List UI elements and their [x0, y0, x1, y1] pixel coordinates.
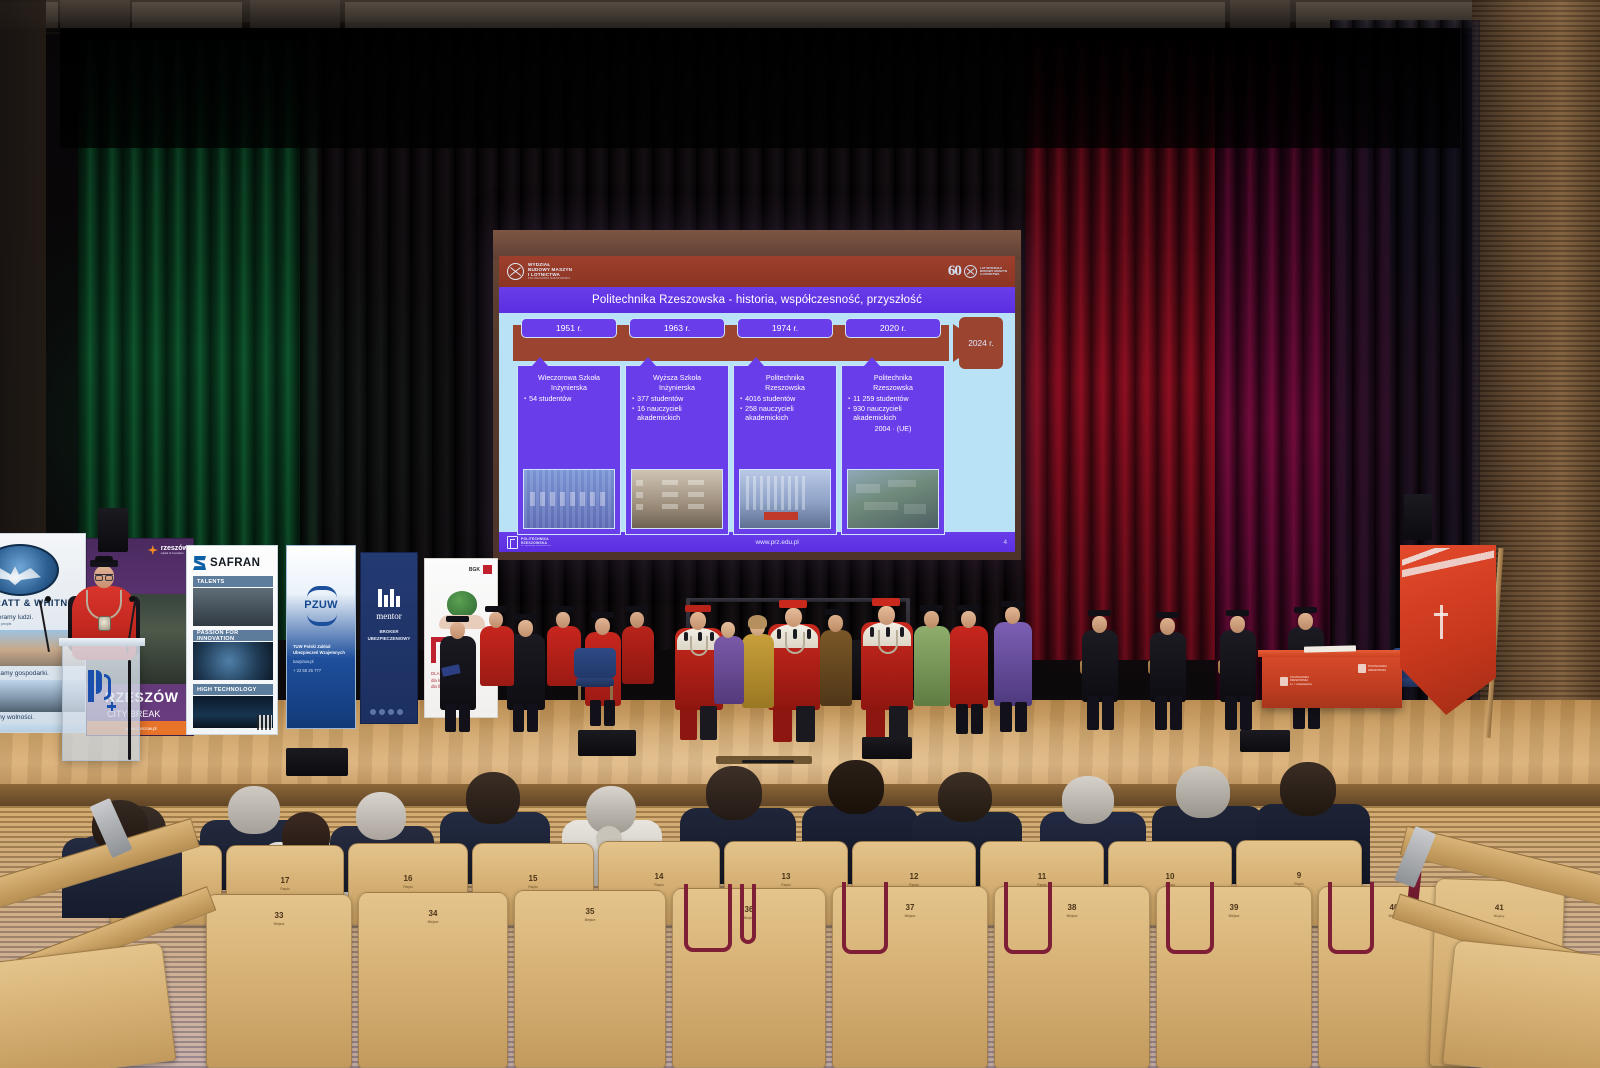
robe-drape — [796, 706, 815, 742]
ermine-tail — [900, 627, 904, 637]
university-seal-icon — [1358, 664, 1366, 673]
seat-sublabel: Rzędu — [227, 887, 343, 891]
timeline-year-1974: 1974 r. — [737, 318, 833, 338]
historic-building-photo — [523, 469, 615, 529]
person-legs — [1087, 696, 1099, 730]
pzuw-arc-top-icon — [307, 586, 337, 598]
stage-person-black-robe — [1080, 608, 1120, 730]
podium-top-surface — [59, 638, 145, 646]
audience-seat-front[interactable]: 33 Miejsce — [206, 894, 352, 1068]
stage-monitor-speaker — [578, 730, 636, 756]
pzuw-wordmark: PZUW — [287, 599, 355, 611]
instagram-icon — [379, 709, 385, 715]
banner-mentor: mentor BROKER UBEZPIECZENIOWY — [360, 552, 418, 724]
stage-person-green-robe — [912, 604, 952, 732]
timeline-year-1951: 1951 r. — [521, 318, 617, 338]
stat-text: 377 studentów — [637, 395, 683, 405]
person-legs — [445, 704, 456, 732]
person-head — [595, 618, 610, 635]
side-speaker — [98, 508, 128, 552]
person-legs — [1102, 696, 1114, 730]
seat-number: 17 — [227, 876, 343, 885]
audience-head — [466, 772, 520, 824]
hair — [748, 615, 767, 629]
year-label: 2020 r. — [880, 323, 906, 333]
banner-tagline-3: Bronimy wolności. — [0, 714, 34, 721]
biretta-cap — [920, 605, 943, 611]
safran-qr-icon — [257, 715, 272, 730]
institution-line-1: Wieczorowa Szkoła — [538, 374, 600, 382]
slide-title-bar: Politechnika Rzeszowska - historia, wspó… — [499, 287, 1015, 313]
slide-footer: POLITECHNIKA RZESZOWSKA im. Ignacego Łuk… — [499, 532, 1015, 552]
year-label: 1951 r. — [556, 323, 582, 333]
institution-line-2: Rzeszowska — [765, 384, 805, 392]
microphone-head-left — [45, 596, 51, 602]
seat-sublabel: Miejsce — [515, 918, 665, 922]
timeline-column-1974: Politechnika Rzeszowska ▪ 4016 studentów… — [733, 365, 837, 535]
table-logo-left: POLITECHNIKA RZESZOWSKA im. I. Łukasiewi… — [1280, 676, 1312, 686]
person-legs — [1155, 696, 1167, 730]
ermine-tail — [777, 629, 781, 639]
university-logo-text: POLITECHNIKA RZESZOWSKA im. Ignacego Łuk… — [521, 537, 551, 547]
reserved-ribbon — [1328, 882, 1374, 954]
rzeszow-tagline: capital of innovation — [161, 552, 188, 555]
person-legs — [956, 704, 968, 734]
audience-head — [1062, 776, 1114, 824]
projection-screen: WYDZIAŁ BUDOWY MASZYN I LOTNICTWA POLITE… — [493, 230, 1021, 560]
person-head — [721, 622, 735, 638]
stage-person-brown-robe — [818, 608, 854, 730]
ceiling-tile — [132, 2, 242, 28]
academic-biretta-cap — [90, 560, 118, 567]
rector-medallion — [98, 616, 111, 631]
reserved-ribbon — [740, 884, 756, 944]
person-legs — [604, 700, 615, 726]
person-head — [1092, 616, 1107, 633]
person-legs — [527, 704, 538, 732]
presentation-slide: WYDZIAŁ BUDOWY MASZYN I LOTNICTWA POLITE… — [499, 256, 1015, 552]
seat-sublabel: Rzędu — [473, 885, 593, 889]
table-logo-line-1: POLITECHNIKA — [1368, 665, 1387, 668]
audience-head — [1176, 766, 1230, 818]
mentor-social-icons — [370, 709, 403, 715]
stat-text: 258 nauczycieli akademickich — [745, 405, 831, 424]
ermine-tail — [870, 627, 874, 637]
microphone-head-right — [129, 596, 135, 602]
green-robe — [914, 626, 950, 706]
safran-caption-passion: PASSION FOR INNOVATION — [193, 630, 273, 641]
person-legs — [1015, 702, 1027, 732]
rector-red-cap — [685, 605, 711, 612]
person-head — [450, 622, 465, 639]
seat-number: 16 — [349, 874, 467, 883]
audience-seat-front[interactable]: 34 Miejsce — [358, 892, 508, 1068]
anniversary-number: 60 — [948, 263, 961, 280]
slide-title: Politechnika Rzeszowska - historia, wspó… — [592, 294, 922, 306]
banner-tagline-1: Wspieramy ludzi. — [0, 614, 33, 621]
stat-text: 11 259 studentów — [853, 395, 908, 405]
seat-number: 33 — [207, 911, 351, 920]
stat-item: ▪ 930 nauczycieli akademickich — [847, 405, 939, 424]
year-label: 1963 r. — [664, 323, 690, 333]
person-legs — [1170, 696, 1182, 730]
anniversary-text: LAT WYDZIAŁU BUDOWY MASZYN I LOTNICTWA — [980, 267, 1007, 277]
ceiling-beam — [250, 0, 340, 30]
mentor-subtitle: BROKER UBEZPIECZENIOWY — [361, 629, 417, 642]
eu-accession-note: 2004 · (UE) — [847, 425, 939, 433]
stat-item: ▪ 258 nauczycieli akademickich — [739, 405, 831, 424]
audience-head — [706, 766, 762, 820]
bullet-icon: ▪ — [740, 405, 742, 424]
mentor-sub-line-1: BROKER — [379, 629, 398, 634]
timeline-year-1963: 1963 r. — [629, 318, 725, 338]
person-head — [961, 611, 976, 628]
brown-robe — [820, 630, 852, 706]
anniversary-emblem-icon — [964, 265, 977, 278]
institution-line-1: Politechnika — [766, 374, 804, 382]
biretta-cap — [957, 605, 980, 611]
seat-number: 14 — [599, 872, 719, 881]
safran-logo: SAFRAN — [193, 556, 260, 570]
timeline-year-2020: 2020 r. — [845, 318, 941, 338]
banner-pzuw: PZUW TUW Polski Zakład Ubezpieczeń Wzaje… — [286, 545, 356, 729]
prz-logo-icon — [507, 536, 518, 549]
linkedin-icon — [388, 709, 394, 715]
seat-sublabel: Miejsce — [207, 922, 351, 926]
purple-robe — [714, 636, 744, 704]
person-legs — [459, 704, 470, 732]
institution-line-1: Wyższa Szkoła — [653, 374, 701, 382]
institution-line-1: Politechnika — [874, 374, 912, 382]
pzuw-phone: + 22 58 25 777 — [293, 668, 345, 674]
audience-seat-front[interactable]: 35 Miejsce — [514, 890, 666, 1068]
faculty-logo-text: WYDZIAŁ BUDOWY MASZYN I LOTNICTWA POLITE… — [528, 263, 572, 281]
safran-photo-talents — [193, 588, 273, 626]
rector-chain-of-office — [878, 630, 898, 654]
pzuw-legal-line-2: Ubezpieczeń Wzajemnych — [293, 650, 345, 656]
stat-item: ▪ 4016 studentów — [739, 395, 831, 405]
institution-line-2: Inżynierska — [659, 384, 695, 392]
biretta-cap — [1088, 610, 1111, 616]
stage-person-purple-robe — [992, 600, 1034, 732]
pratt-whitney-badge-icon — [0, 544, 59, 596]
side-wall-left — [0, 0, 46, 620]
biretta-cap — [824, 609, 847, 615]
seat-number: 9 — [1237, 871, 1361, 880]
biretta-cap — [1226, 610, 1249, 616]
bullet-icon: ▪ — [524, 395, 526, 405]
stage-valance — [60, 28, 1460, 148]
person-legs — [1240, 696, 1252, 730]
person-head — [1230, 616, 1245, 633]
timeline-column-1963: Wyższa Szkoła Inżynierska ▪ 377 studentó… — [625, 365, 729, 535]
aerial-campus-photo — [847, 469, 939, 529]
year-label: 2024 r. — [968, 338, 994, 348]
bullet-icon: ▪ — [632, 405, 634, 424]
person-head — [878, 606, 895, 625]
mic-cable — [128, 660, 131, 760]
university-logo: POLITECHNIKA RZESZOWSKA im. Ignacego Łuk… — [507, 536, 551, 549]
ceiling-beam — [1230, 0, 1290, 30]
stage-person-black-robe — [438, 614, 478, 724]
bullet-icon: ▪ — [632, 395, 634, 405]
robe-drape — [680, 706, 697, 740]
institution-line-2: Rzeszowska — [873, 384, 913, 392]
seat-number: 34 — [359, 909, 507, 918]
glasses-icon — [95, 574, 113, 578]
slide-number: 4 — [1003, 539, 1007, 546]
seat-number: 12 — [853, 872, 975, 881]
facebook-icon — [370, 709, 376, 715]
faculty-logo: WYDZIAŁ BUDOWY MASZYN I LOTNICTWA POLITE… — [507, 263, 572, 281]
institution-name: Politechnika Rzeszowska — [739, 374, 831, 393]
safran-photo-engine — [193, 642, 273, 680]
reserved-ribbon — [842, 882, 888, 954]
stage-person-red-robe — [948, 604, 990, 734]
black-robe — [1150, 632, 1186, 702]
stat-text: 16 nauczycieli akademickich — [637, 405, 723, 424]
table-logo-line-2: RZESZOWSKA — [1368, 669, 1387, 672]
rector-chain-of-office — [690, 636, 708, 656]
stat-text: 4016 studentów — [745, 395, 795, 405]
biretta-cap — [514, 614, 537, 620]
banner-safran: SAFRAN TALENTS PASSION FOR INNOVATION HI… — [186, 545, 278, 735]
university-seal-icon — [1280, 677, 1288, 686]
black-robe — [1220, 630, 1256, 702]
stat-text: 54 studentów — [529, 395, 571, 405]
stage-person-red-robe — [620, 606, 656, 706]
year-label: 1974 r. — [772, 323, 798, 333]
pzuw-legal-block: TUW Polski Zakład Ubezpieczeń Wzajemnych… — [293, 644, 345, 674]
timeline-year-2024: 2024 r. — [959, 317, 1003, 369]
stage-person-black-robe — [1148, 610, 1188, 730]
safran-wordmark: SAFRAN — [210, 557, 260, 569]
person-legs — [590, 700, 601, 726]
person-head — [518, 620, 533, 637]
person-head — [489, 612, 503, 628]
bullet-icon: ▪ — [848, 395, 850, 405]
caption-text: PASSION FOR INNOVATION — [197, 630, 273, 642]
safran-caption-technology: HIGH TECHNOLOGY — [193, 684, 273, 695]
biretta-cap — [591, 612, 614, 618]
stage-person-black-robe — [1218, 608, 1258, 730]
auditorium-photo: WYDZIAŁ BUDOWY MASZYN I LOTNICTWA POLITE… — [0, 0, 1600, 1068]
ermine-tail — [684, 632, 688, 641]
stage-person-purple-robe — [712, 616, 746, 728]
person-head — [1005, 607, 1020, 624]
banner-tagline-2: Rozwijamy gospodarki. — [0, 670, 49, 677]
mentor-wordmark: mentor — [361, 611, 417, 621]
person-legs — [1000, 702, 1012, 732]
person-head — [924, 611, 939, 628]
person-legs — [513, 704, 524, 732]
stage-monitor-speaker — [1240, 730, 1290, 752]
institution-name: Wieczorowa Szkoła Inżynierska — [523, 374, 615, 393]
pzuw-arc-bottom-icon — [307, 614, 337, 626]
timeline-column-1951: Wieczorowa Szkoła Inżynierska ▪ 54 stude… — [517, 365, 621, 535]
stat-item: ▪ 11 259 studentów — [847, 395, 939, 405]
person-head — [690, 612, 706, 630]
safran-caption-talents: TALENTS — [193, 576, 273, 587]
person-head — [828, 615, 843, 632]
rector-red-cap — [872, 598, 900, 606]
cable — [742, 760, 794, 763]
caption-text: TALENTS — [197, 579, 224, 585]
anniversary-logo: 60 LAT WYDZIAŁU BUDOWY MASZYN I LOTNICTW… — [948, 263, 1007, 280]
stat-text: 930 nauczycieli akademickich — [853, 405, 939, 424]
ceremonial-table: POLITECHNIKA RZESZOWSKA im. I. Łukasiewi… — [1262, 654, 1402, 708]
biretta-cap — [1001, 601, 1024, 607]
callout-tail-icon — [748, 357, 764, 366]
mentor-sub-line-2: UBEZPIECZENIOWY — [368, 636, 411, 641]
rzeszow-wordmark: rzeszów — [161, 545, 188, 552]
audience-head — [356, 792, 406, 840]
person-head — [630, 612, 644, 628]
foreground-seat-left[interactable] — [0, 941, 176, 1068]
rzeszow-logo: rzeszów capital of innovation — [148, 545, 188, 555]
callout-tail-icon — [864, 357, 880, 366]
eagle-icon — [0, 564, 41, 586]
seat-sublabel: Rzędu — [349, 885, 467, 889]
institution-line-2: Inżynierska — [551, 384, 587, 392]
ermine-tail — [807, 629, 811, 639]
stage-monitor-speaker — [286, 748, 348, 776]
biretta-cap — [1294, 607, 1317, 613]
safran-mark-icon — [193, 556, 206, 570]
empty-chair — [574, 648, 616, 700]
person-head — [556, 612, 570, 628]
red-robe — [480, 626, 514, 686]
banner-tagline-sub: We support people. — [0, 622, 12, 626]
audience-head — [828, 760, 884, 814]
person-head — [1298, 613, 1313, 630]
bgk-logo: BGK — [469, 565, 492, 574]
institution-name: Wyższa Szkoła Inżynierska — [631, 374, 723, 393]
podium-prz-logo-icon — [87, 670, 117, 712]
reserved-ribbon — [1004, 882, 1052, 954]
bullet-icon: ▪ — [740, 395, 742, 405]
faculty-emblem-icon — [507, 263, 524, 280]
purple-robe — [994, 622, 1032, 706]
slide-url: www.prz.edu.pl — [755, 539, 798, 546]
stage-person-rector — [858, 596, 916, 744]
stat-item: ▪ 16 nauczycieli akademickich — [631, 405, 723, 424]
audience-head — [1280, 762, 1336, 816]
foreground-seat-right[interactable] — [1442, 939, 1600, 1068]
slide-header: WYDZIAŁ BUDOWY MASZYN I LOTNICTWA POLITE… — [499, 256, 1015, 287]
ceiling-beam — [60, 0, 130, 30]
rzeszow-star-icon — [148, 545, 158, 555]
callout-tail-icon — [640, 357, 656, 366]
seat-number: 13 — [725, 872, 847, 881]
stage-monitor-speaker — [862, 737, 912, 759]
bgk-wordmark: BGK — [469, 567, 480, 573]
biretta-cap — [626, 606, 648, 612]
red-robe — [950, 626, 988, 708]
seat-number: 10 — [1109, 872, 1231, 881]
stat-item: ▪ 377 studentów — [631, 395, 723, 405]
seat-number: 11 — [981, 872, 1103, 881]
youtube-icon — [397, 709, 403, 715]
flag-emblem-icon — [1434, 605, 1448, 639]
biretta-cap — [446, 616, 469, 622]
seat-number: 35 — [515, 907, 665, 916]
slide-body: 1951 r. 1963 r. 1974 r. 2020 r. 2024 r. — [499, 313, 1015, 532]
hanging-speaker — [1404, 494, 1432, 540]
timeline-column-2020: Politechnika Rzeszowska ▪ 11 259 student… — [841, 365, 945, 535]
person-head — [785, 608, 802, 627]
biretta-cap — [1156, 612, 1179, 618]
table-logo-right: POLITECHNIKA RZESZOWSKA — [1358, 664, 1387, 673]
campus-building-photo — [739, 469, 831, 529]
black-robe — [1082, 630, 1118, 702]
ceiling-tile — [345, 2, 1225, 28]
reserved-ribbon — [684, 884, 732, 952]
university-line-3: im. Ignacego Łukasiewicza — [521, 545, 551, 547]
person-legs — [971, 704, 983, 734]
pzuw-url: tuwpzuw.pl — [293, 659, 345, 665]
callout-tail-icon — [532, 357, 548, 366]
bgk-square-icon — [483, 565, 492, 574]
red-robe — [622, 626, 654, 684]
biretta-cap — [485, 606, 507, 612]
stat-item: ▪ 54 studentów — [523, 395, 615, 405]
audience-head — [228, 786, 280, 834]
caption-text: HIGH TECHNOLOGY — [197, 687, 257, 693]
bullet-icon: ▪ — [848, 405, 850, 424]
mentor-mark-icon — [378, 589, 402, 607]
person-head — [1160, 618, 1175, 635]
gold-robe — [742, 634, 774, 708]
person-legs — [1225, 696, 1237, 730]
biretta-cap — [552, 606, 574, 612]
stage-person-red-robe — [478, 606, 516, 706]
rector-chain-of-office — [785, 632, 805, 654]
institution-name: Politechnika Rzeszowska — [847, 374, 939, 393]
anniversary-line-3: I LOTNICTWA — [980, 273, 1007, 276]
rector-red-cap — [779, 600, 807, 608]
seat-number: 15 — [473, 874, 593, 883]
reserved-ribbon — [1166, 882, 1214, 954]
audience-head — [938, 772, 992, 822]
seat-sublabel: Miejsce — [359, 920, 507, 924]
historic-building-photo — [631, 469, 723, 529]
faculty-line-4: POLITECHNIKA RZESZOWSKA — [528, 278, 572, 281]
table-logo-line-3: im. I. Łukasiewicza — [1290, 683, 1312, 686]
